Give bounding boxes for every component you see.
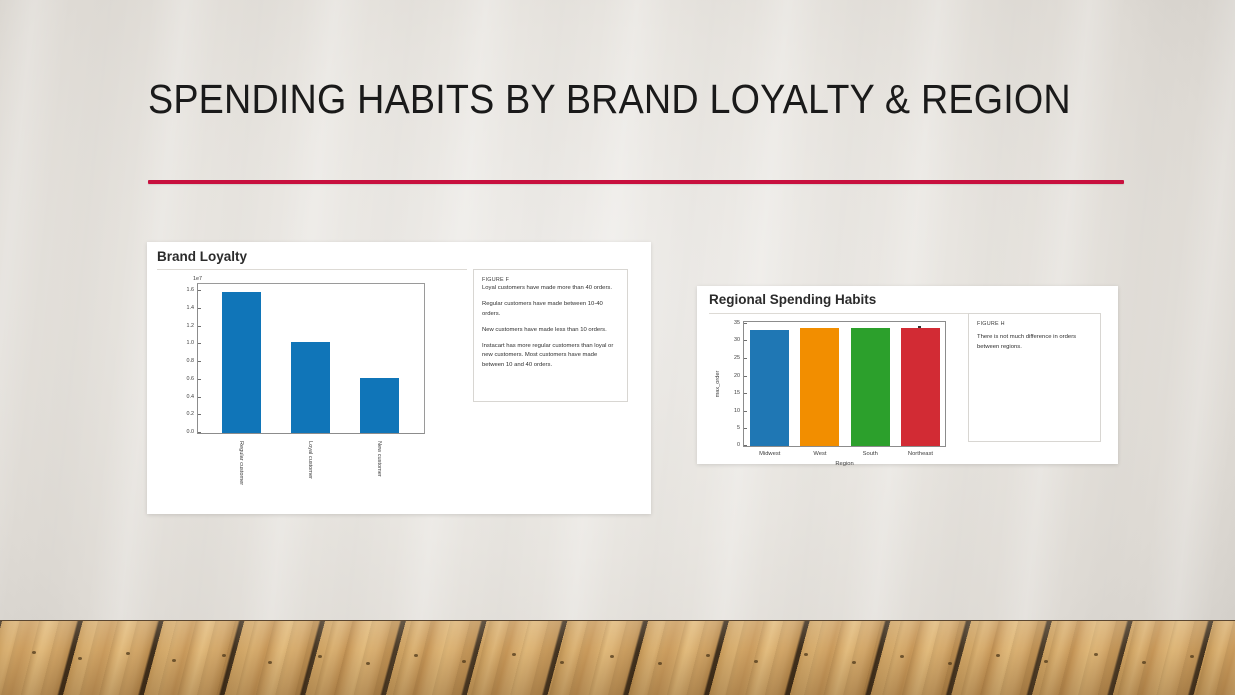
floor-nail <box>32 651 36 654</box>
brand-loyalty-ytick: 1.2 <box>187 323 199 329</box>
figure-h-paragraph: There is not much difference in orders b… <box>977 333 1092 352</box>
floor-nail <box>126 652 130 655</box>
regional-spending-ytick: 20 <box>734 373 744 379</box>
figure-h-heading: FIGURE H <box>977 321 1092 327</box>
regional-spending-ytick: 35 <box>734 320 744 326</box>
bar-loyal-customer <box>291 342 331 433</box>
figure-f-heading: FIGURE F <box>482 277 619 283</box>
page-title: SPENDING HABITS BY BRAND LOYALTY & REGIO… <box>148 76 1031 123</box>
figure-f-paragraph: New customers have made less than 10 ord… <box>482 326 619 336</box>
floor-nail <box>512 653 516 656</box>
floor-nail <box>222 654 226 657</box>
floor-nail <box>996 654 1000 657</box>
floor-nail <box>366 662 370 665</box>
brand-loyalty-card: Brand Loyalty 1e7 1.6 1.4 1.2 1.0 0.8 0.… <box>147 242 651 514</box>
brand-loyalty-ytick: 0.6 <box>187 376 199 382</box>
brand-loyalty-ytick: 1.4 <box>187 305 199 311</box>
brand-loyalty-axes: 1.6 1.4 1.2 1.0 0.8 0.6 0.4 0.2 0.0 Regu… <box>197 283 425 434</box>
regional-spending-ytick: 25 <box>734 355 744 361</box>
bar-new-customer <box>360 378 400 433</box>
title-divider-rule <box>148 180 1124 184</box>
brand-loyalty-ytick: 0.8 <box>187 358 199 364</box>
brand-loyalty-xtick: New customer <box>376 441 382 477</box>
brand-loyalty-ytick: 0.4 <box>187 394 199 400</box>
floor-nail <box>754 660 758 663</box>
brand-loyalty-xtick: Regular customer <box>238 441 244 485</box>
bar-south <box>851 328 890 446</box>
floor-nail <box>804 653 808 656</box>
brand-loyalty-ytick: 0.0 <box>187 429 199 435</box>
brand-loyalty-ytick: 1.0 <box>187 340 199 346</box>
slide-canvas: SPENDING HABITS BY BRAND LOYALTY & REGIO… <box>0 0 1235 695</box>
bar-west <box>800 328 839 446</box>
regional-spending-ytick: 0 <box>737 442 744 448</box>
figure-f-paragraph: Instacart has more regular customers tha… <box>482 342 619 371</box>
regional-spending-ytick: 5 <box>737 425 744 431</box>
floor-nail <box>1142 661 1146 664</box>
brand-loyalty-ytick: 1.6 <box>187 287 199 293</box>
bar-midwest <box>750 330 789 446</box>
figure-f-paragraph: Loyal customers have made more than 40 o… <box>482 284 619 294</box>
floor-nail <box>462 660 466 663</box>
floor-nail <box>268 661 272 664</box>
brand-loyalty-ytick: 0.2 <box>187 411 199 417</box>
regional-spending-ytick: 10 <box>734 408 744 414</box>
figure-f-note-box: FIGURE F Loyal customers have made more … <box>473 269 628 402</box>
figure-h-note-box: FIGURE H There is not much difference in… <box>968 313 1101 442</box>
regional-spending-xtick: Midwest <box>759 451 780 457</box>
regional-spending-card: Regional Spending Habits max_order 35 30… <box>697 286 1118 464</box>
figure-f-paragraph: Regular customers have made between 10-4… <box>482 300 619 319</box>
floor-nail <box>900 655 904 658</box>
regional-spending-xtick: West <box>813 451 826 457</box>
wooden-floor <box>0 620 1235 695</box>
floor-nail <box>78 657 82 660</box>
floor-nail <box>172 659 176 662</box>
regional-spending-chart: max_order 35 30 25 20 15 10 5 0 Midwest <box>697 286 967 464</box>
brand-loyalty-xtick: Loyal customer <box>307 441 313 479</box>
regional-spending-xtick: South <box>863 451 878 457</box>
floor-nail <box>948 662 952 665</box>
floor-nail <box>1044 660 1048 663</box>
bar-northeast <box>901 328 940 446</box>
floor-sheen <box>0 621 1235 695</box>
brand-loyalty-chart: 1e7 1.6 1.4 1.2 1.0 0.8 0.6 0.4 0.2 0.0 … <box>147 242 447 514</box>
floor-nail <box>318 655 322 658</box>
floor-nail <box>658 662 662 665</box>
regional-spending-x-axis-label: Region <box>835 461 853 467</box>
regional-spending-ytick: 30 <box>734 337 744 343</box>
floor-nail <box>1190 655 1194 658</box>
floor-nail <box>610 655 614 658</box>
regional-spending-xtick: Northeast <box>908 451 933 457</box>
regional-spending-y-axis-label: max_order <box>715 359 721 409</box>
floor-nail <box>852 661 856 664</box>
floor-nail <box>560 661 564 664</box>
regional-spending-axes: 35 30 25 20 15 10 5 0 Midwest West South… <box>743 321 946 447</box>
regional-spending-ytick: 15 <box>734 390 744 396</box>
floor-nail <box>706 654 710 657</box>
northeast-error-cap <box>918 326 921 328</box>
brand-loyalty-y-offset-text: 1e7 <box>193 276 202 282</box>
floor-nail <box>1094 653 1098 656</box>
floor-nail <box>414 654 418 657</box>
bar-regular-customer <box>222 292 262 433</box>
